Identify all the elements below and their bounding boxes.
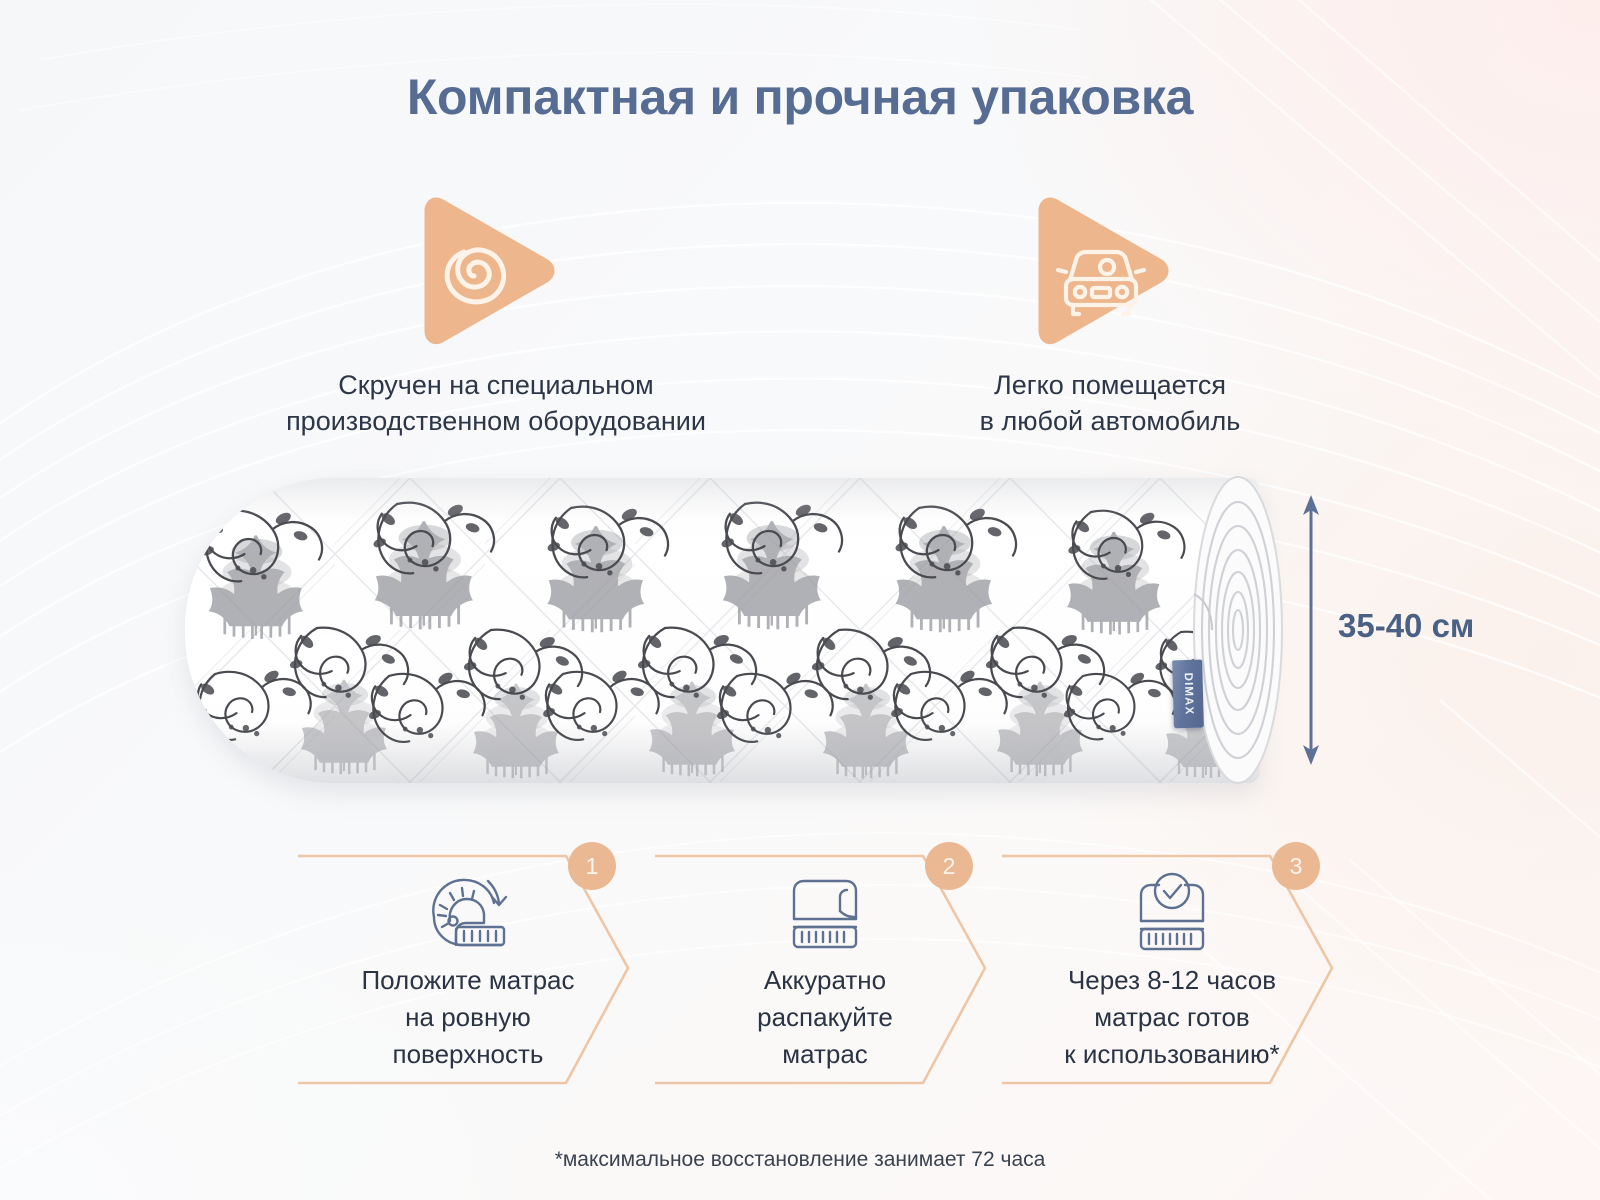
mattress-unpack-icon	[655, 868, 995, 960]
feature-caption: Легко помещается в любой автомобиль	[810, 368, 1410, 440]
step-text: Через 8-12 часов матрас готов к использо…	[1002, 962, 1342, 1073]
mattress-check-icon	[1002, 868, 1342, 960]
step-text: Аккуратно распакуйте матрас	[655, 962, 995, 1073]
feature-item-rolled: Скручен на специальном производственном …	[196, 196, 796, 440]
step-item-1: 1 Положите матрас на ровную поверхность	[298, 840, 638, 1095]
step-item-2: 2 Аккуратно распакуйте матрас	[655, 840, 995, 1095]
dimension-label: 35-40 см	[1338, 607, 1474, 645]
steps-row: 1 Положите матрас на ровную поверхность	[0, 840, 1600, 1095]
page-title: Компактная и прочная упаковка	[0, 68, 1600, 126]
brand-tag-label: DIMAX	[1181, 673, 1194, 716]
mattress-roll-body	[185, 478, 1260, 783]
rolled-mattress: DIMAX	[185, 478, 1260, 783]
step-text: Положите матрас на ровную поверхность	[298, 962, 638, 1073]
footnote: *максимальное восстановление занимает 72…	[0, 1148, 1600, 1172]
features-row: Скручен на специальном производственном …	[0, 196, 1600, 456]
rolled-mattress-measure-icon	[298, 868, 638, 960]
spiral-roll-icon	[196, 196, 796, 354]
feature-item-car: Легко помещается в любой автомобиль	[810, 196, 1410, 440]
feature-caption: Скручен на специальном производственном …	[196, 368, 796, 440]
step-item-3: 3 Через 8-12 часов матрас готов к исполь…	[1002, 840, 1342, 1095]
damask-fabric-pattern	[185, 478, 1260, 783]
dimension-double-arrow-icon	[1296, 495, 1326, 765]
car-front-icon	[810, 196, 1410, 354]
infographic-canvas: Компактная и прочная упаковка Скручен на…	[0, 0, 1600, 1200]
height-dimension: 35-40 см	[1296, 495, 1556, 765]
mattress-roll-end-spiral	[1190, 474, 1286, 787]
brand-tag: DIMAX	[1172, 660, 1204, 729]
